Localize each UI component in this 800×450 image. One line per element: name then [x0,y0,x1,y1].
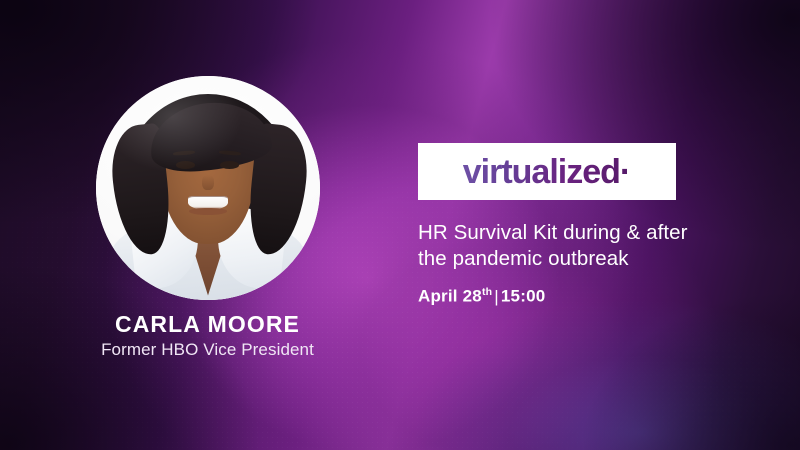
speaker-block: CARLA MOORE Former HBO Vice President [0,0,415,450]
brand-wordmark-text: virtualized [463,153,620,191]
footer: Endorsed by BUCHAREST TECH WEEK go>tech … [0,390,800,450]
talk-date-ordinal-suffix: th [482,286,492,298]
speaker-name: CARLA MOORE [0,311,415,338]
photo-highlight [96,76,320,300]
talk-time: 15:00 [501,287,545,306]
talk-title-line-2: the pandemic outbreak [418,247,629,270]
datetime-separator: | [492,287,501,306]
talk-date: April 28 [418,287,482,306]
brand-plate: virtualized· [418,143,676,200]
brand-wordmark-dot: · [620,153,631,191]
talk-datetime: April 28th|15:00 [418,286,545,307]
speaker-role: Former HBO Vice President [0,340,415,360]
talk-title: HR Survival Kit during & after the pande… [418,220,748,272]
avatar [96,76,320,300]
event-promo-banner: CARLA MOORE Former HBO Vice President vi… [0,0,800,450]
brand-wordmark: virtualized· [463,155,632,189]
speaker-photo [96,76,320,300]
talk-title-line-1: HR Survival Kit during & after [418,221,688,244]
content-block: virtualized· HR Survival Kit during & af… [418,0,800,450]
